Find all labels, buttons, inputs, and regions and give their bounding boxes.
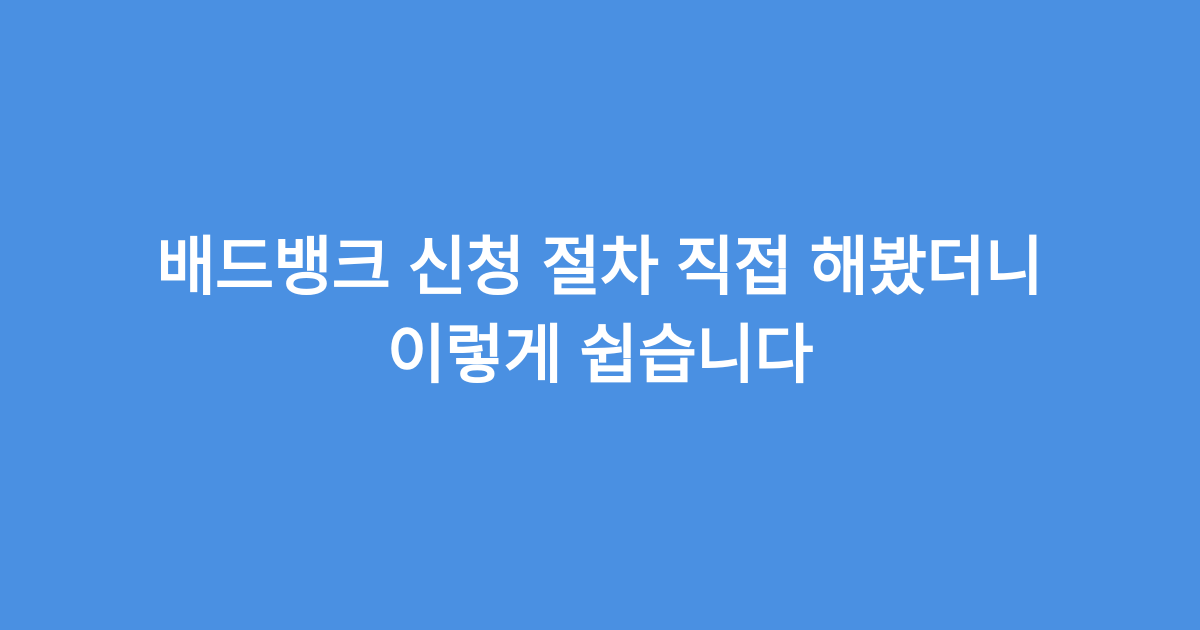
headline-block: 배드뱅크 신청 절차 직접 해봤더니 이렇게 쉽습니다	[70, 223, 1130, 399]
headline-line-2: 이렇게 쉽습니다	[90, 311, 1110, 399]
headline-line-1: 배드뱅크 신청 절차 직접 해봤더니	[90, 223, 1110, 311]
thumbnail-card: 배드뱅크 신청 절차 직접 해봤더니 이렇게 쉽습니다	[0, 0, 1200, 630]
